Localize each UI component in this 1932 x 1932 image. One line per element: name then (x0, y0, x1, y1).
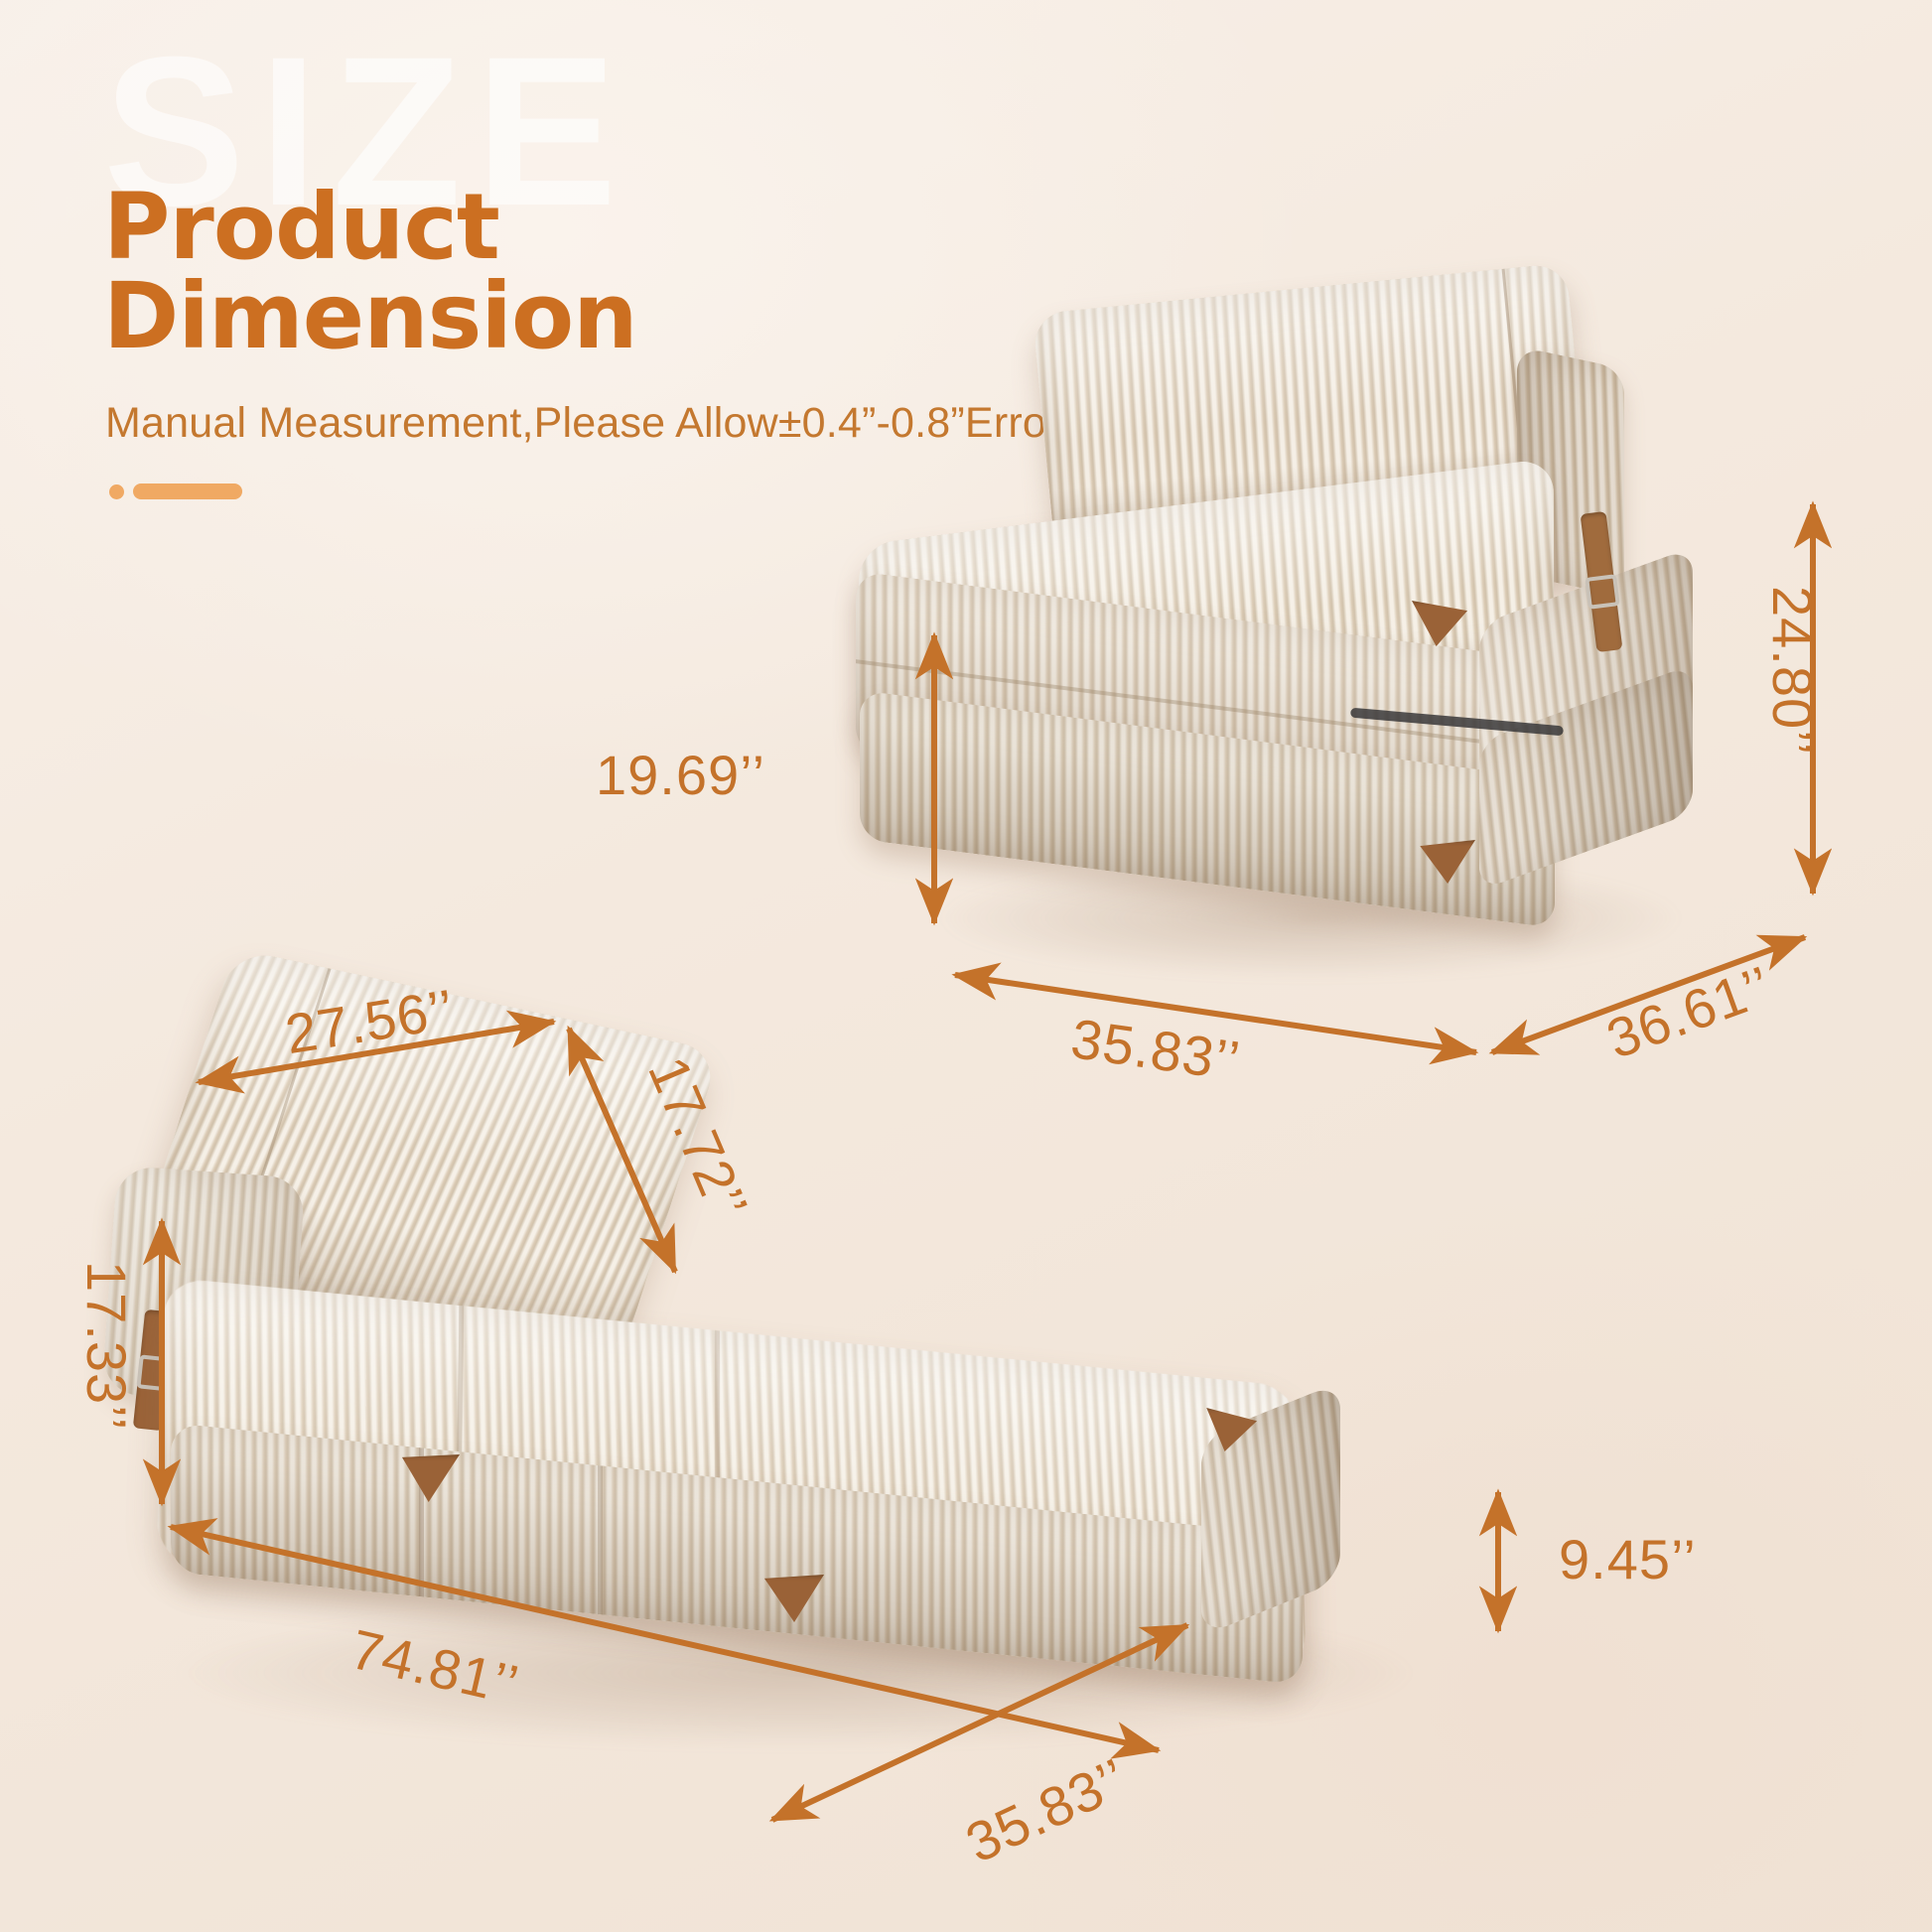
unfolded-bed-illustration (119, 1013, 1509, 1787)
dimension-label-9-45: 9.45’’ (1559, 1527, 1697, 1591)
dimension-label-19-69: 19.69’’ (596, 743, 765, 807)
folded-chair-illustration (923, 288, 1737, 1003)
divider-dot-icon (109, 484, 124, 499)
dimension-label-24-80: 24.80’’ (1760, 586, 1825, 756)
decorative-divider (109, 483, 242, 499)
infographic-canvas: SIZE Product Dimension Manual Measuremen… (0, 0, 1932, 1932)
page-title: Product Dimension (103, 183, 637, 361)
dimension-label-17-33: 17.33’’ (74, 1261, 139, 1431)
divider-bar-icon (133, 483, 242, 499)
buckle-ring-icon (1585, 574, 1620, 610)
